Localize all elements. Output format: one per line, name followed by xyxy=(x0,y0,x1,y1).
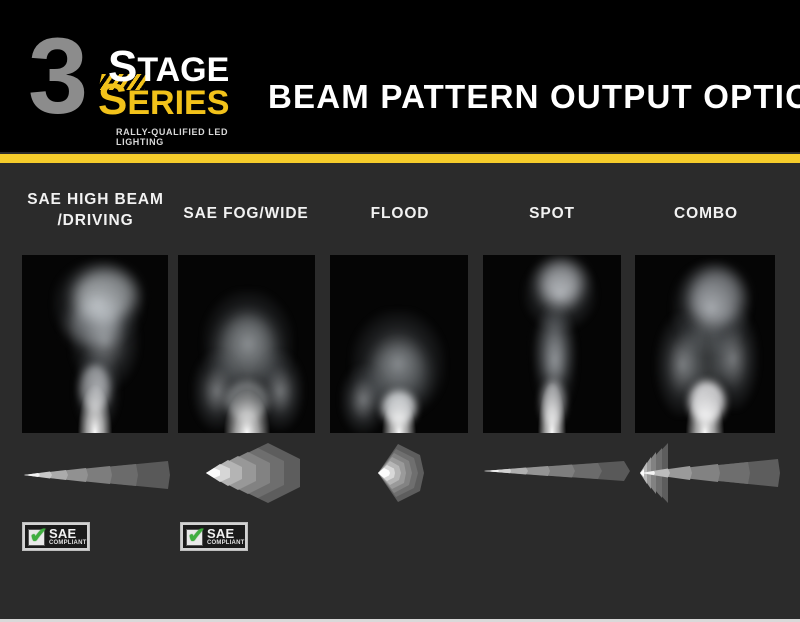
sae-badge-title: SAE xyxy=(49,527,76,540)
sae-badge-title: SAE xyxy=(207,527,234,540)
column-label-combo: COMBO xyxy=(636,203,776,224)
column-label-flood: FLOOD xyxy=(330,203,470,224)
beam-pattern-infographic: 3 STAGE SERIES RALLY-QUALIFIED LED LIGHT… xyxy=(0,0,800,622)
column-label-sae-fog-wide: SAE FOG/WIDE xyxy=(176,203,316,224)
column-label-line1: FLOOD xyxy=(330,203,470,224)
sae-badge-subtitle: COMPLIANT xyxy=(207,540,244,547)
beam-photo-spot xyxy=(483,255,621,433)
beam-photo-combo xyxy=(635,255,775,433)
logo-word-series: SERIES xyxy=(98,83,229,120)
sae-compliant-badge: ✔ SAE COMPLIANT xyxy=(180,522,248,551)
column-label-line1: COMBO xyxy=(636,203,776,224)
beam-photo-sae-fog-wide xyxy=(178,255,315,433)
check-icon: ✔ xyxy=(187,525,206,548)
beam-diagram-combo xyxy=(610,439,782,507)
page-title: BEAM PATTERN OUTPUT OPTIONS xyxy=(268,78,800,116)
header-bar: 3 STAGE SERIES RALLY-QUALIFIED LED LIGHT… xyxy=(0,0,800,152)
column-label-sae-high-beam: SAE HIGH BEAM /DRIVING xyxy=(18,189,173,231)
column-label-line1: SPOT xyxy=(483,203,621,224)
content-area: SAE HIGH BEAM /DRIVING xyxy=(0,163,800,615)
logo-numeral-3: 3 xyxy=(28,26,82,126)
sae-compliant-badge: ✔ SAE COMPLIANT xyxy=(22,522,90,551)
beam-photo-flood xyxy=(330,255,468,433)
beam-diagram-flood xyxy=(368,441,432,505)
column-label-spot: SPOT xyxy=(483,203,621,224)
check-icon: ✔ xyxy=(29,525,48,548)
stage-series-logo: 3 STAGE SERIES RALLY-QUALIFIED LED LIGHT… xyxy=(28,28,243,128)
beam-diagram-sae-fog-wide xyxy=(190,439,306,507)
accent-divider xyxy=(0,154,800,163)
column-label-line2: /DRIVING xyxy=(18,210,173,231)
column-label-line1: SAE FOG/WIDE xyxy=(176,203,316,224)
beam-diagram-sae-high-beam xyxy=(18,445,170,501)
column-label-line1: SAE HIGH BEAM xyxy=(18,189,173,210)
sae-badge-subtitle: COMPLIANT xyxy=(49,540,86,547)
logo-tagline: RALLY-QUALIFIED LED LIGHTING xyxy=(116,127,243,147)
beam-photo-sae-high-beam xyxy=(22,255,168,433)
